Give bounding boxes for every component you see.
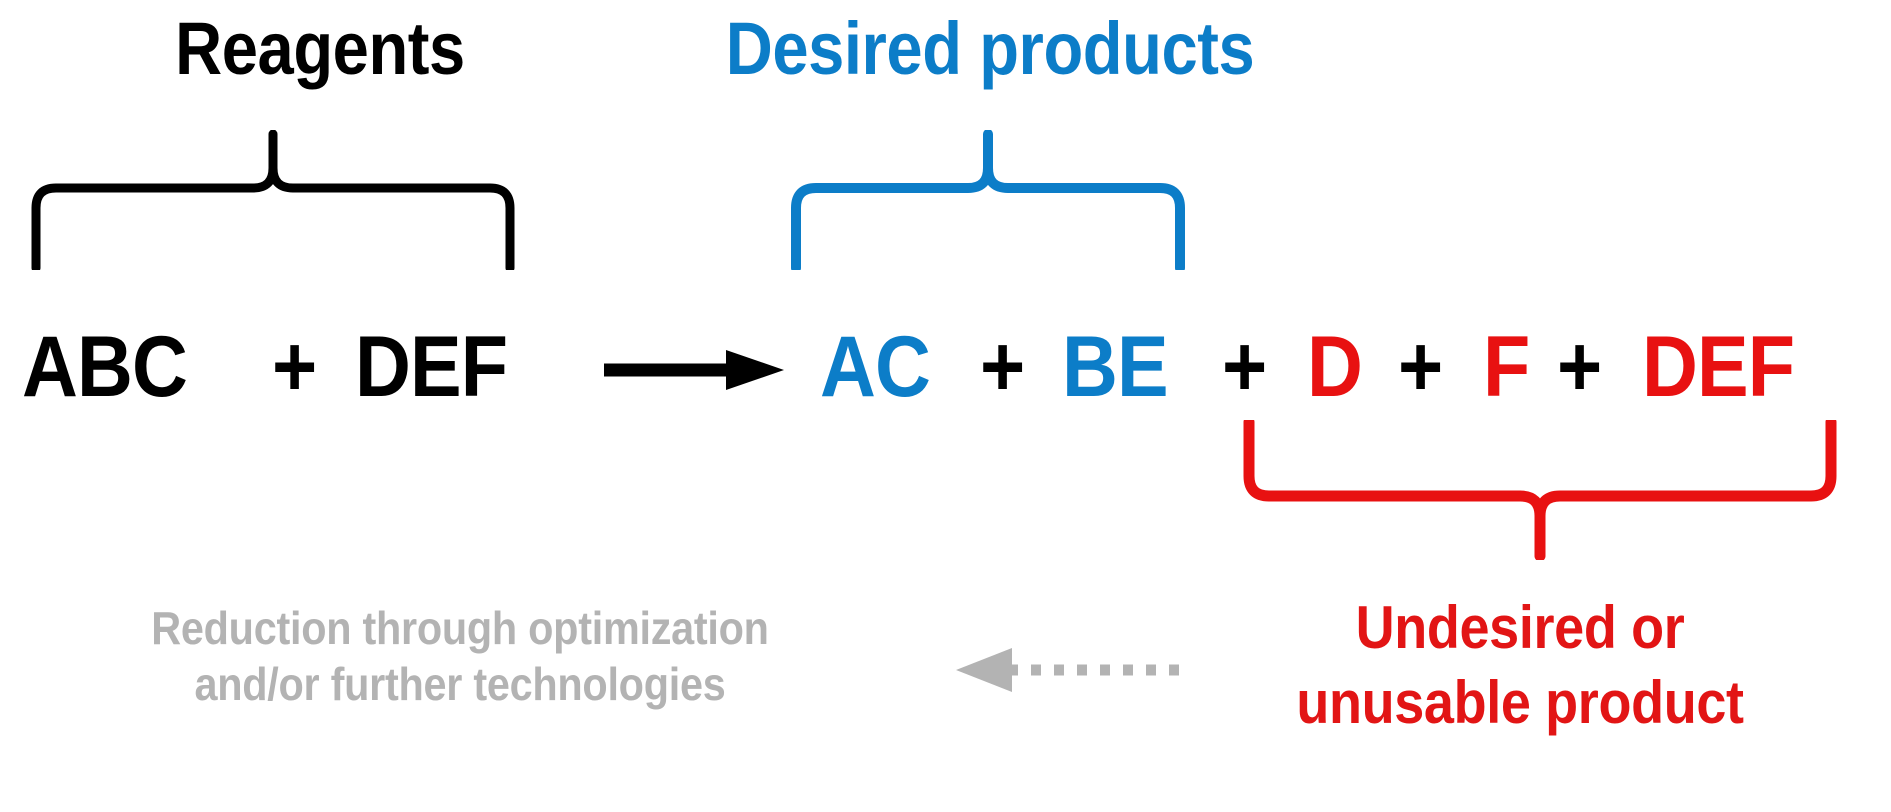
undesired-caption-line-1: Undesired or	[1205, 590, 1835, 665]
reagents-brace-icon	[28, 130, 518, 270]
undesired-caption-line-2: unusable product	[1205, 665, 1835, 740]
reduction-note: Reduction through optimization and/or fu…	[55, 600, 865, 712]
byproduct-f: F	[1483, 312, 1529, 422]
reagents-caption: Reagents	[38, 6, 601, 91]
reduction-note-line-1: Reduction through optimization	[55, 600, 865, 656]
figure-canvas: Reagents Desired products ABC + DEF AC +…	[0, 0, 1891, 812]
undesired-brace-icon	[1240, 420, 1840, 560]
product-plus-2: +	[1222, 312, 1266, 422]
product-plus-1: +	[980, 312, 1024, 422]
undesired-product-caption: Undesired or unusable product	[1205, 590, 1835, 740]
product-plus-3: +	[1398, 312, 1442, 422]
reactant-plus-1: +	[272, 312, 316, 422]
feedback-arrow-icon	[940, 640, 1210, 700]
desired-products-brace-icon	[788, 130, 1188, 270]
reactant-def: DEF	[355, 312, 507, 422]
product-be: BE	[1062, 312, 1168, 422]
desired-products-caption: Desired products	[656, 6, 1325, 91]
reaction-arrow-icon	[600, 346, 790, 394]
byproduct-def: DEF	[1642, 312, 1794, 422]
byproduct-d: D	[1307, 312, 1362, 422]
reactant-abc: ABC	[22, 312, 187, 422]
reaction-equation: ABC + DEF AC + BE + D + F + DEF	[0, 312, 1891, 422]
product-ac: AC	[820, 312, 930, 422]
product-plus-4: +	[1557, 312, 1601, 422]
reduction-note-line-2: and/or further technologies	[55, 656, 865, 712]
